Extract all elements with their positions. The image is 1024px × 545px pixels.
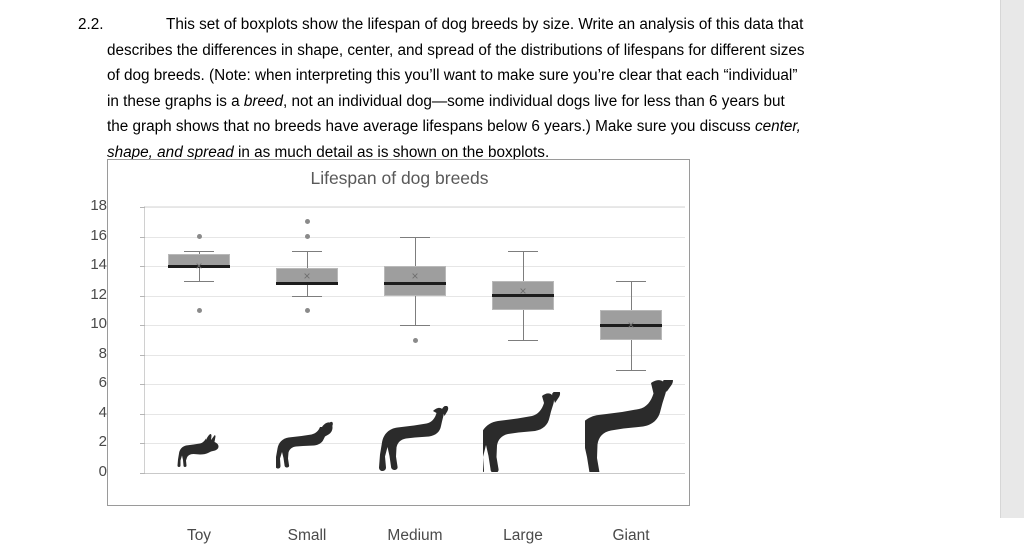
question-line-1-text: This set of boxplots show the lifespan o…	[166, 16, 803, 33]
y-tick-label-10: 10	[67, 315, 107, 332]
y-tick-mark-0	[140, 473, 145, 474]
y-tick-label-4: 4	[67, 404, 107, 421]
x-tick-label-small: Small	[253, 527, 361, 545]
question-line-5-prefix: the graph shows that no breeds have aver…	[107, 118, 755, 135]
emphasis-breed: breed	[244, 93, 283, 110]
boxplot-giant[interactable]: ×	[145, 207, 685, 473]
x-tick-label-giant: Giant	[577, 527, 685, 545]
y-tick-label-16: 16	[67, 227, 107, 244]
question-line-4-prefix: in these graphs is a	[107, 93, 244, 110]
whisker-upper	[631, 281, 632, 311]
x-tick-label-toy: Toy	[145, 527, 253, 545]
question-line-1: 2.2.This set of boxplots show the lifesp…	[78, 12, 958, 38]
y-tick-label-18: 18	[67, 197, 107, 214]
y-tick-label-2: 2	[67, 433, 107, 450]
chart-title: Lifespan of dog breeds	[108, 168, 691, 189]
boxplot-chart: Lifespan of dog breeds 024681012141618 ×…	[107, 159, 690, 506]
question-line-2: describes the differences in shape, cent…	[107, 38, 958, 64]
question-line-4: in these graphs is a breed, not an indiv…	[107, 89, 958, 115]
scrollbar-gutter[interactable]	[1000, 0, 1024, 518]
question-number: 2.2.	[78, 12, 166, 38]
emphasis-center: center,	[755, 118, 801, 135]
y-tick-label-14: 14	[67, 256, 107, 273]
y-tick-label-6: 6	[67, 374, 107, 391]
question-line-5: the graph shows that no breeds have aver…	[107, 114, 958, 140]
whisker-lower	[631, 340, 632, 370]
x-tick-label-medium: Medium	[361, 527, 469, 545]
mean-marker: ×	[626, 320, 637, 331]
y-tick-label-12: 12	[67, 286, 107, 303]
cap-upper	[616, 281, 646, 282]
y-tick-label-0: 0	[67, 463, 107, 480]
question-line-3: of dog breeds. (Note: when interpreting …	[107, 63, 958, 89]
question-line-4-suffix: , not an individual dog—some individual …	[283, 93, 785, 110]
y-tick-label-8: 8	[67, 345, 107, 362]
cap-lower	[616, 370, 646, 371]
document-page: 2.2.This set of boxplots show the lifesp…	[0, 0, 1000, 518]
x-tick-label-large: Large	[469, 527, 577, 545]
question-block: 2.2.This set of boxplots show the lifesp…	[78, 12, 958, 166]
plot-area: 024681012141618 ××××× ToySmallMediumLarg…	[144, 206, 685, 473]
gridline-0	[145, 473, 685, 474]
